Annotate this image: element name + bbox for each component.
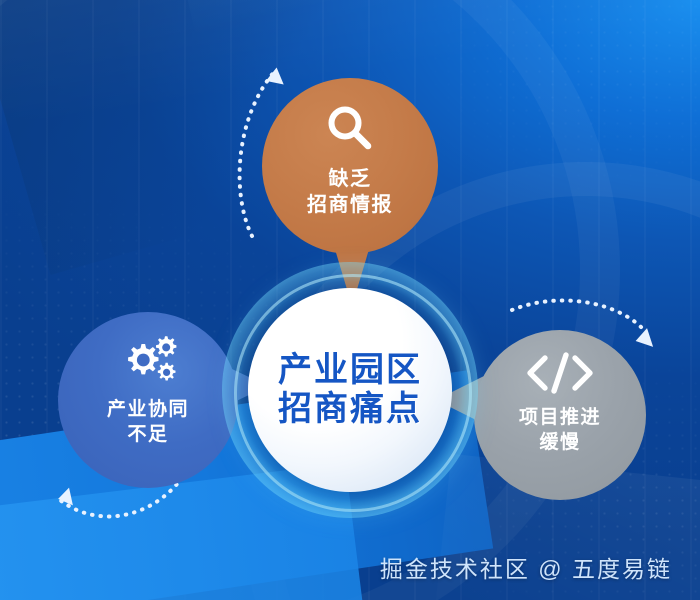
arrow-top-right-path: [512, 300, 644, 330]
left-node-content: 产业协同 不足: [58, 312, 238, 488]
top-node-line2: 招商情报: [307, 192, 393, 218]
top-node-line1: 缺乏: [307, 166, 393, 192]
left-node-line1: 产业协同: [107, 398, 189, 423]
left-node-label: 产业协同 不足: [107, 398, 189, 447]
infographic-canvas: 产业协同 不足 项目推进 缓慢: [0, 0, 700, 600]
watermark: 掘金技术社区 @ 五度易链: [380, 550, 672, 584]
gears-icon: [117, 334, 179, 386]
center-title: 产业园区 招商痛点: [248, 288, 452, 492]
right-node-label: 项目推进 缓慢: [519, 406, 601, 455]
center-title-line2: 招商痛点: [278, 390, 422, 429]
left-node-line2: 不足: [107, 423, 189, 448]
right-node-line1: 项目推进: [519, 406, 601, 431]
search-icon: [324, 102, 376, 154]
top-node-label: 缺乏 招商情报: [307, 166, 393, 218]
right-node-content: 项目推进 缓慢: [474, 330, 646, 500]
top-node-content: 缺乏 招商情报: [262, 78, 438, 254]
center-title-line1: 产业园区: [278, 351, 422, 390]
code-brackets-icon: [523, 350, 597, 396]
arrow-bottom-left-head: [57, 487, 73, 506]
right-node-line2: 缓慢: [519, 431, 601, 456]
